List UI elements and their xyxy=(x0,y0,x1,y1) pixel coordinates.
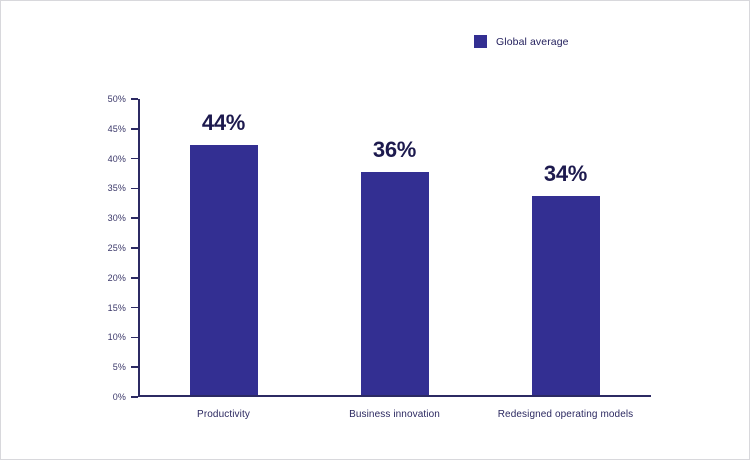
bar-group[interactable]: 34%Redesigned operating models xyxy=(532,196,600,396)
y-axis-tick-mark xyxy=(131,128,138,130)
y-axis-tick-mark xyxy=(131,366,138,368)
x-axis-line xyxy=(138,395,651,397)
y-axis-tick-mark xyxy=(131,217,138,219)
y-axis-tick-mark xyxy=(131,277,138,279)
x-axis-category-label: Productivity xyxy=(197,409,250,420)
plot-area: 0%5%10%15%20%25%30%35%40%45%50% 44%Produ… xyxy=(138,99,651,397)
y-axis-tick-mark xyxy=(131,337,138,339)
y-axis-tick-mark xyxy=(131,396,138,398)
bar-group[interactable]: 36%Business innovation xyxy=(361,172,429,396)
x-axis-category-label: Business innovation xyxy=(349,409,440,420)
x-axis-category-label: Redesigned operating models xyxy=(498,409,634,420)
chart-legend: Global average xyxy=(474,35,569,48)
bar-value-label: 34% xyxy=(544,161,587,187)
bar[interactable] xyxy=(361,172,429,396)
bar-value-label: 44% xyxy=(202,110,245,136)
y-axis-tick-mark xyxy=(131,247,138,249)
square-swatch-icon xyxy=(474,35,487,48)
bar-group[interactable]: 44%Productivity xyxy=(190,145,258,395)
y-axis-tick-mark xyxy=(131,98,138,100)
y-axis-tick-mark xyxy=(131,307,138,309)
y-axis-tick-mark xyxy=(131,188,138,190)
y-axis-line xyxy=(138,99,140,397)
legend-item-label: Global average xyxy=(496,36,569,48)
bar[interactable] xyxy=(190,145,258,395)
chart-canvas: Global average 0%5%10%15%20%25%30%35%40%… xyxy=(0,0,750,460)
bar[interactable] xyxy=(532,196,600,396)
y-axis-tick-mark xyxy=(131,158,138,160)
bar-value-label: 36% xyxy=(373,137,416,163)
